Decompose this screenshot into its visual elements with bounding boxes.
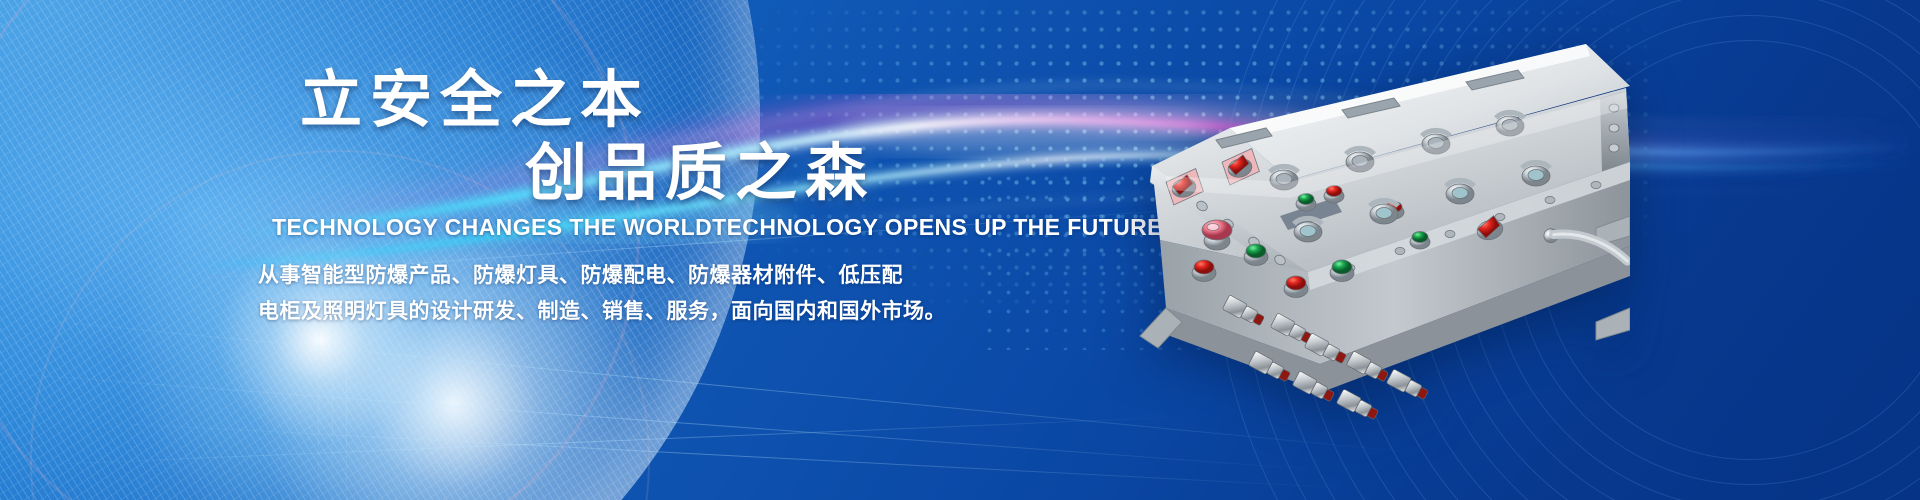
headline-line-2: 创品质之森 [525, 143, 875, 205]
description-line-2: 电柜及照明灯具的设计研发、制造、销售、服务，面向国内和国外市场。 [258, 294, 918, 330]
headline-line-1: 立安全之本 [300, 70, 650, 132]
description-line-1: 从事智能型防爆产品、防爆灯具、防爆配电、防爆器材附件、低压配 [258, 258, 918, 294]
banner-copy: 立安全之本 创品质之森 TECHNOLOGY CHANGES THE WORLD… [0, 0, 1000, 500]
product-image-explosion-proof-control-cabinet [990, 40, 1630, 440]
description-block: 从事智能型防爆产品、防爆灯具、防爆配电、防爆器材附件、低压配 电柜及照明灯具的设… [258, 258, 918, 330]
hero-banner: 立安全之本 创品质之森 TECHNOLOGY CHANGES THE WORLD… [0, 0, 1920, 500]
